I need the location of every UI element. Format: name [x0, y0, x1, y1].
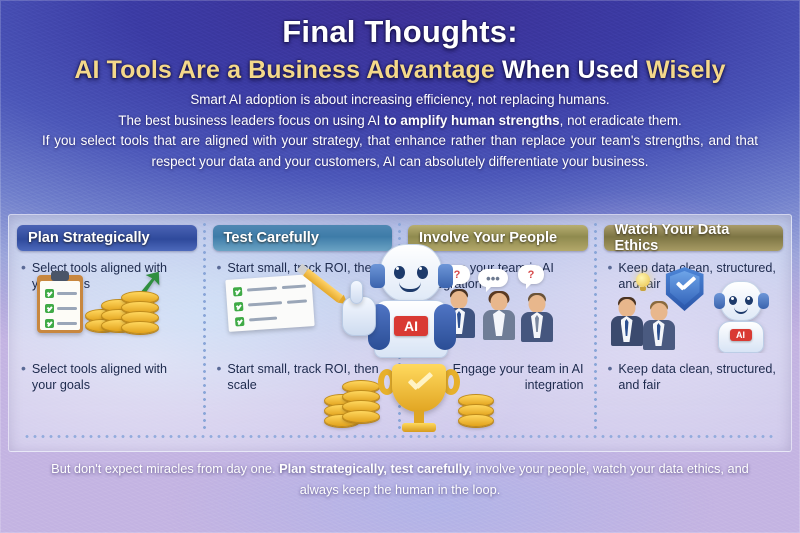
check-icon	[45, 319, 54, 328]
footer-part-1: But don't expect miracles from day one.	[51, 461, 279, 476]
intro-line-3: If you select tools that are aligned wit…	[38, 131, 762, 172]
card-2-title: Test Carefully	[224, 230, 319, 246]
check-icon	[234, 317, 244, 327]
robot-ear	[370, 264, 385, 288]
bullet-dot-icon: •	[217, 361, 222, 393]
person-head	[650, 303, 667, 321]
robot-shoulder-right	[434, 304, 456, 350]
header-block: Final Thoughts: AI Tools Are a Business …	[0, 14, 800, 85]
robot-ear	[714, 293, 725, 309]
intro-line2-b: , not eradicate them.	[560, 113, 682, 128]
robot-ear	[758, 293, 769, 309]
rule-line	[249, 317, 277, 321]
person-head	[618, 299, 635, 317]
subtitle-white: When Used	[495, 56, 646, 84]
person-icon	[610, 299, 644, 345]
subtitle-gold-b: Wisely	[646, 56, 726, 84]
bullet-dot-icon: •	[608, 361, 613, 393]
clipboard-sheet	[40, 281, 80, 330]
trophy-check-icon	[408, 378, 430, 392]
ai-badge: AI	[394, 316, 428, 336]
person-icon	[520, 295, 554, 341]
robot-eye	[729, 296, 737, 305]
robot-thumb	[350, 280, 363, 304]
bullet-dot-icon: •	[21, 361, 26, 393]
intro-paragraph: Smart AI adoption is about increasing ef…	[38, 90, 762, 172]
coin-icon	[121, 321, 159, 334]
trophy-base	[402, 423, 436, 432]
ai-badge-text: AI	[404, 318, 418, 334]
intro-line2-bold: to amplify human strengths	[384, 113, 560, 128]
coin-icon	[458, 414, 494, 427]
clipboard-clip-icon	[51, 271, 69, 281]
rule-line	[57, 322, 77, 325]
page-subtitle: AI Tools Are a Business Advantage When U…	[0, 56, 800, 85]
card-4-bullet-bottom-text: Keep data clean, structured, and fair	[618, 361, 779, 393]
footer-bold: Plan strategically, test carefully,	[279, 461, 472, 476]
lightbulb-icon	[636, 273, 650, 287]
card-watch-your-data-ethics[interactable]: Watch Your Data Ethics • Keep data clean…	[596, 215, 792, 451]
checklist-paper	[225, 274, 314, 332]
card-4-bullet-bottom: • Keep data clean, structured, and fair	[604, 361, 784, 393]
check-icon	[233, 302, 243, 312]
check-icon	[45, 304, 54, 313]
page-title: Final Thoughts:	[0, 14, 800, 50]
subtitle-gold-a: AI Tools Are a Business Advantage	[74, 56, 495, 84]
coin-icon	[342, 410, 380, 423]
robot-head	[380, 244, 442, 302]
check-icon	[45, 289, 54, 298]
rule-line	[57, 292, 77, 295]
intro-line2-a: The best business leaders focus on using…	[118, 113, 384, 128]
robot-ear	[438, 264, 453, 288]
rule-line	[247, 301, 281, 306]
footer-text: But don't expect miracles from day one. …	[50, 458, 750, 500]
card-1-bullet-bottom-text: Select tools aligned with your goals	[32, 361, 193, 393]
robot-eye	[745, 296, 753, 305]
robot-eye	[417, 266, 428, 279]
speech-bubble-question-icon: ?	[518, 265, 544, 284]
bubble-text: ?	[528, 269, 535, 281]
card-1-illustration: ➚	[17, 261, 197, 353]
trophy-stem	[414, 410, 424, 424]
robot-eye	[394, 266, 405, 279]
card-4-header: Watch Your Data Ethics	[604, 225, 784, 251]
ai-badge: AI	[730, 329, 752, 341]
shield-check-mark	[676, 280, 694, 289]
rule-line	[286, 299, 306, 303]
infographic-canvas: Final Thoughts: AI Tools Are a Business …	[0, 0, 800, 533]
robot-icon: AI	[710, 281, 774, 351]
intro-line-2: The best business leaders focus on using…	[38, 111, 762, 132]
trophy-icon	[378, 364, 460, 440]
person-icon	[642, 303, 676, 349]
robot-head	[720, 281, 762, 321]
person-head	[529, 295, 546, 313]
card-plan-strategically[interactable]: Plan Strategically • Select tools aligne…	[9, 215, 205, 451]
card-1-title: Plan Strategically	[28, 230, 150, 246]
card-1-bullet-bottom: • Select tools aligned with your goals	[17, 361, 197, 393]
card-4-title: Watch Your Data Ethics	[615, 222, 773, 254]
card-4-illustration: AI	[604, 261, 784, 353]
center-robot-icon: AI	[346, 244, 476, 374]
rule-line	[281, 284, 305, 288]
card-1-header: Plan Strategically	[17, 225, 197, 251]
clipboard-icon	[37, 275, 83, 333]
check-icon	[232, 287, 242, 297]
rule-line	[57, 307, 77, 310]
rule-line	[246, 286, 276, 291]
center-illustration: AI	[316, 244, 506, 452]
intro-line-1: Smart AI adoption is about increasing ef…	[38, 90, 762, 111]
ai-badge-text: AI	[736, 330, 745, 340]
